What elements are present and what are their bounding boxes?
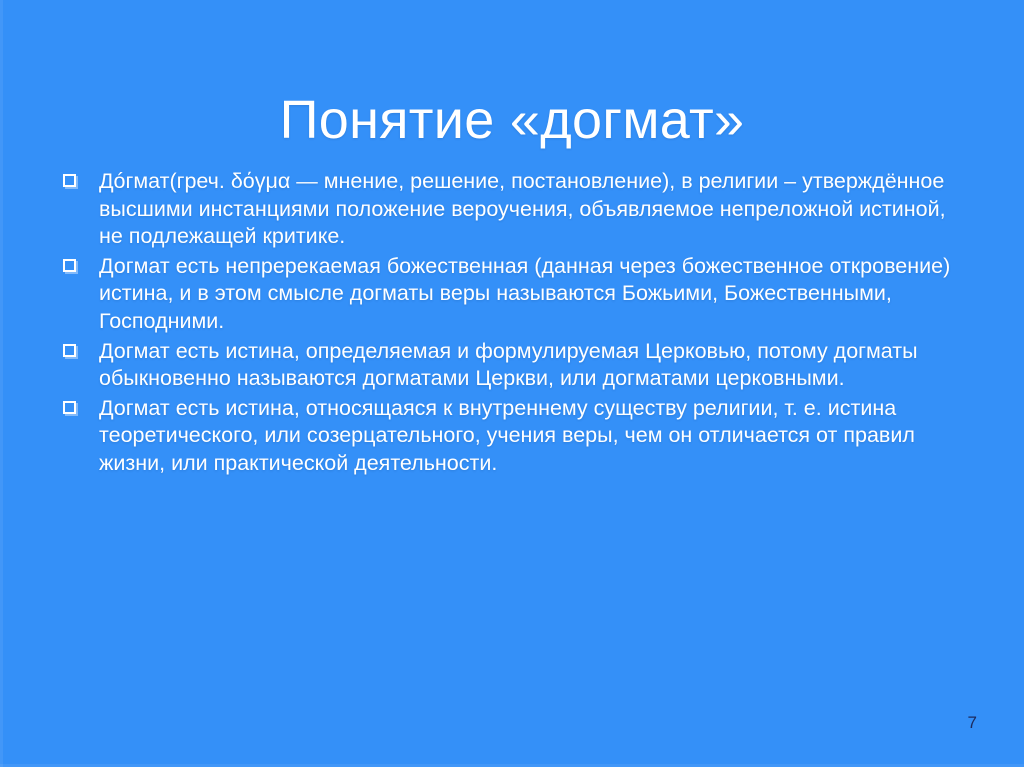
- page-number: 7: [968, 714, 977, 731]
- bullet-item-text: Догмат есть истина, относящаяся к внутре…: [99, 395, 965, 478]
- open-square-bullet-icon: [63, 401, 76, 414]
- slide-title: Понятие «догмат»: [0, 90, 1024, 150]
- bullet-item-text: Догмат есть истина, определяемая и форму…: [99, 338, 965, 393]
- bullet-item: Дóгмат(греч. δόγμα — мнение, решение, по…: [60, 168, 965, 251]
- bullet-item: Догмат есть истина, определяемая и форму…: [60, 338, 965, 393]
- open-square-bullet-icon: [63, 259, 76, 272]
- presentation-slide: Понятие «догмат» Дóгмат(греч. δόγμα — мн…: [0, 0, 1024, 767]
- bullet-item: Догмат есть непререкаемая божественная (…: [60, 253, 965, 336]
- open-square-bullet-icon: [63, 344, 76, 357]
- slide-body: Дóгмат(греч. δόγμα — мнение, решение, по…: [60, 168, 965, 480]
- bullet-item-text: Дóгмат(греч. δόγμα — мнение, решение, по…: [99, 168, 965, 251]
- bullet-item: Догмат есть истина, относящаяся к внутре…: [60, 395, 965, 478]
- bullet-list: Дóгмат(греч. δόγμα — мнение, решение, по…: [60, 168, 965, 478]
- bullet-item-text: Догмат есть непререкаемая божественная (…: [99, 253, 965, 336]
- open-square-bullet-icon: [63, 174, 76, 187]
